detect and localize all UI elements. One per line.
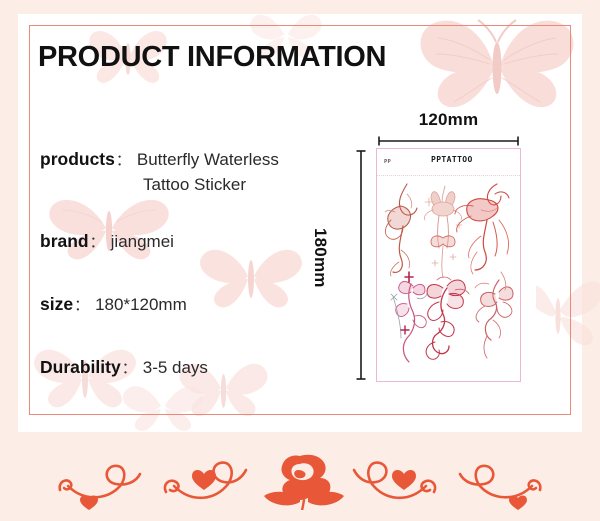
spec-label: products bbox=[40, 149, 115, 169]
sheet-brand-mark: PPTATTOO bbox=[431, 155, 473, 164]
product-information-graphic: PRODUCT INFORMATION products：Butterfly W… bbox=[0, 0, 600, 521]
spec-value-line2: Tattoo Sticker bbox=[143, 174, 279, 195]
height-dimension-label: 180mm bbox=[310, 228, 330, 288]
rose-stem-icon bbox=[300, 500, 304, 510]
spec-value: 180*120mm bbox=[90, 295, 187, 314]
spec-label: brand bbox=[40, 231, 89, 251]
spec-separator: ： bbox=[89, 234, 106, 251]
spec-label: size bbox=[40, 294, 73, 314]
spec-separator: ： bbox=[115, 152, 132, 169]
spec-separator: ： bbox=[121, 360, 138, 377]
width-dimension-label: 120mm bbox=[376, 110, 521, 130]
design-orchid-wisp bbox=[475, 272, 513, 358]
width-dimension-line bbox=[376, 133, 521, 143]
design-phoenix bbox=[455, 184, 509, 274]
spec-row-durability: Durability：3-5 days bbox=[40, 356, 208, 379]
design-lily-vine bbox=[426, 277, 469, 359]
spec-label: Durability bbox=[40, 357, 121, 377]
spec-separator: ： bbox=[73, 297, 90, 314]
product-sheet-image: PP PPTATTOO bbox=[376, 148, 521, 382]
spec-value: 3-5 days bbox=[138, 358, 208, 377]
sheet-header: PP PPTATTOO bbox=[377, 149, 520, 176]
design-koi-dragon-wisp bbox=[385, 184, 417, 276]
height-dimension-line bbox=[356, 148, 366, 382]
spec-value: jiangmei bbox=[106, 232, 174, 251]
sheet-logo-mark: PP bbox=[384, 159, 391, 165]
spec-row-products: products：Butterfly Waterless Tattoo Stic… bbox=[40, 148, 279, 196]
spec-row-size: size：180*120mm bbox=[40, 293, 187, 316]
design-floral-vine-pink bbox=[391, 272, 427, 362]
tattoo-design-grid bbox=[377, 176, 520, 381]
rose-flourish-divider bbox=[0, 440, 600, 510]
spec-row-brand: brand：jiangmei bbox=[40, 230, 174, 253]
page-title: PRODUCT INFORMATION bbox=[38, 41, 386, 74]
design-lotus-sparkle bbox=[424, 186, 462, 278]
spec-value: Butterfly Waterless bbox=[132, 150, 279, 169]
